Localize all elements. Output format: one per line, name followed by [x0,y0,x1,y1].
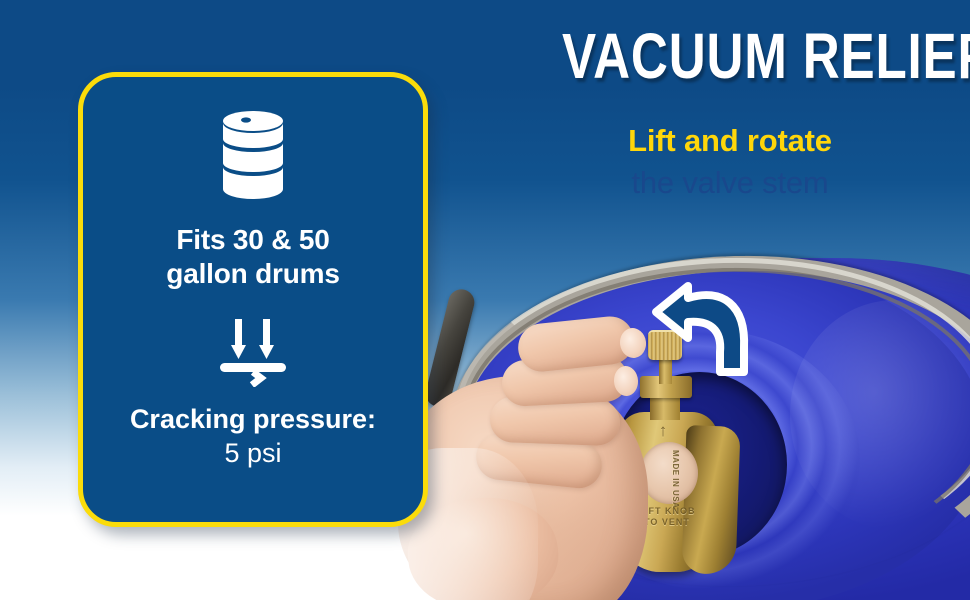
feature-two-value: 5 psi [224,436,281,470]
subtitle-highlight: Lift and rotate [520,122,940,160]
feature-one-text: Fits 30 & 50 gallon drums [166,223,339,291]
pressure-arrows-icon [214,317,292,387]
page-title: VACUUM RELIEF [562,22,898,90]
feature-one-line-1: Fits 30 & 50 [166,223,339,257]
feature-panel: Fits 30 & 50 gallon drums Cracking press… [78,72,428,527]
rotate-arrow-icon [648,268,768,388]
feature-two-label: Cracking pressure: [130,403,376,436]
product-banner: ↑ LIFT KNOB TO VENT MADE IN USA [0,0,970,600]
subtitle-rest: the valve stem [520,163,940,203]
valve-flange [681,425,740,575]
hand [398,318,688,600]
drum-icon [216,109,290,209]
feature-one-line-2: gallon drums [166,257,339,291]
